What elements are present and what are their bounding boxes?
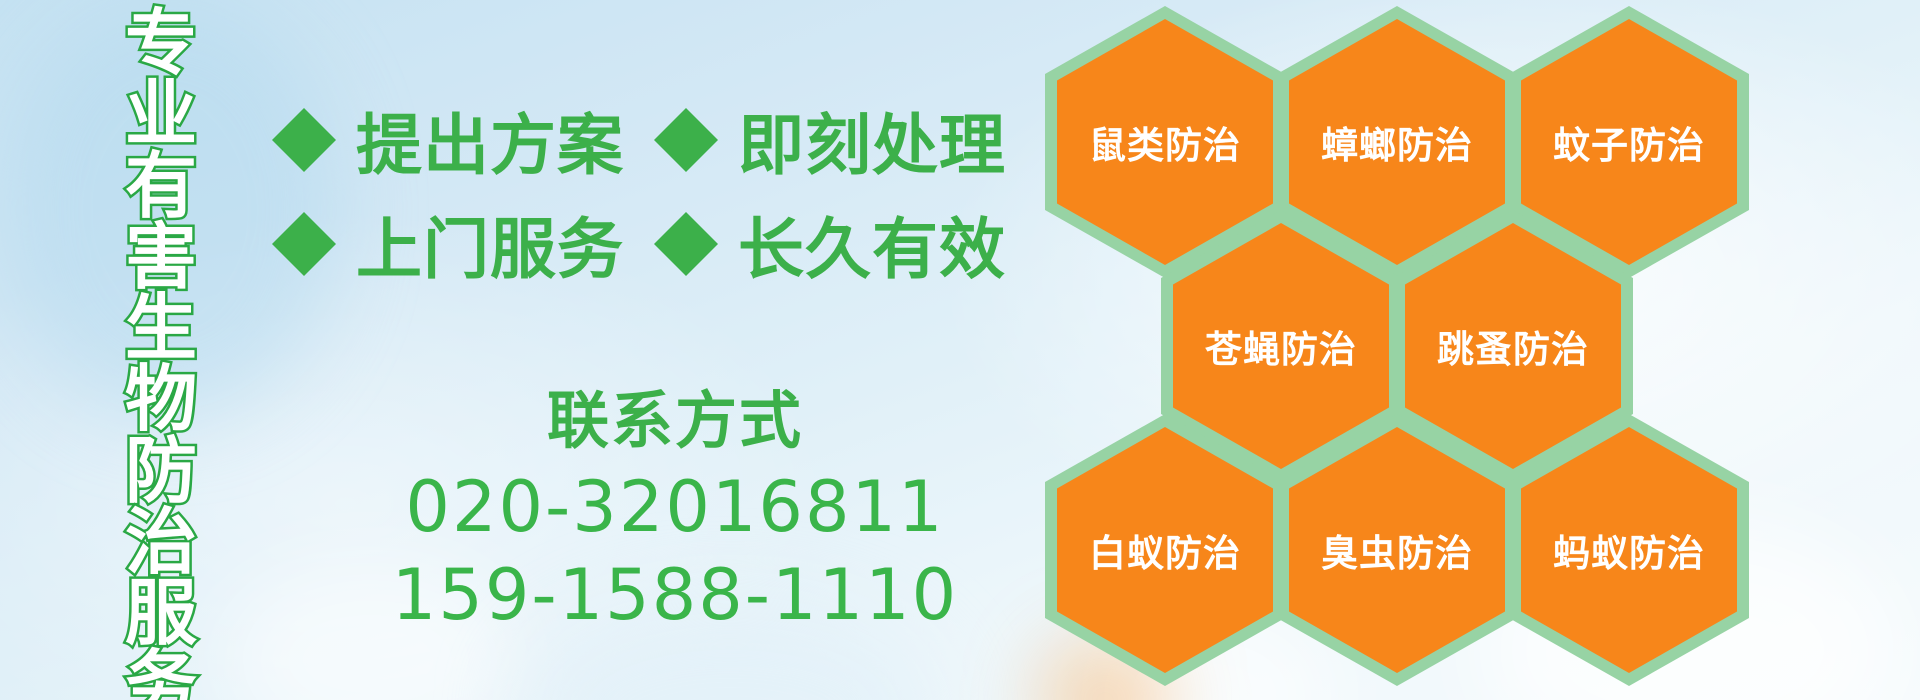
vertical-headline-char: 专 xyxy=(125,8,197,79)
service-hex-ant[interactable]: 蚂蚁防治 xyxy=(1509,414,1749,686)
phone-number-landline[interactable]: 020-32016811 xyxy=(330,464,1020,552)
diamond-icon xyxy=(272,180,336,244)
vertical-headline: 专 业 有 害 生 物 防 治 服 务 xyxy=(118,8,204,700)
phone-number-mobile[interactable]: 159-1588-1110 xyxy=(330,552,1020,640)
vertical-headline-char: 防 xyxy=(125,436,197,507)
vertical-headline-char: 服 xyxy=(125,578,197,649)
service-label: 臭虫防治 xyxy=(1277,414,1517,686)
vertical-headline-char: 生 xyxy=(125,293,197,364)
service-label: 白蚁防治 xyxy=(1045,414,1285,686)
service-hex-bedbug[interactable]: 臭虫防治 xyxy=(1277,414,1517,686)
diamond-icon xyxy=(654,76,718,140)
feature-label: 即刻处理 xyxy=(738,92,1006,188)
service-label: 蚂蚁防治 xyxy=(1509,414,1749,686)
vertical-headline-char: 有 xyxy=(125,151,197,222)
feature-label: 长久有效 xyxy=(738,196,1006,292)
feature-row: 提出方案 即刻处理 xyxy=(272,88,892,192)
vertical-headline-char: 业 xyxy=(125,79,197,150)
contact-title: 联系方式 xyxy=(330,385,1020,456)
service-honeycomb: 鼠类防治 蟑螂防治 蚊子防治 苍蝇防治 跳蚤防治 白蚁防治 xyxy=(1045,0,1920,700)
pest-control-banner: 专 业 有 害 生 物 防 治 服 务 提出方案 即刻处理 上门服务 长久有效 … xyxy=(0,0,1920,700)
vertical-headline-char: 治 xyxy=(125,507,197,578)
feature-row: 上门服务 长久有效 xyxy=(272,192,892,296)
feature-label: 上门服务 xyxy=(356,196,624,292)
service-hex-termite[interactable]: 白蚁防治 xyxy=(1045,414,1285,686)
vertical-headline-char: 害 xyxy=(125,222,197,293)
contact-block: 联系方式 020-32016811 159-1588-1110 xyxy=(330,385,1020,639)
diamond-icon xyxy=(272,76,336,140)
vertical-headline-char: 务 xyxy=(125,649,197,700)
feature-label: 提出方案 xyxy=(356,92,624,188)
diamond-icon xyxy=(654,180,718,244)
vertical-headline-char: 物 xyxy=(125,364,197,435)
feature-list: 提出方案 即刻处理 上门服务 长久有效 xyxy=(272,88,892,296)
